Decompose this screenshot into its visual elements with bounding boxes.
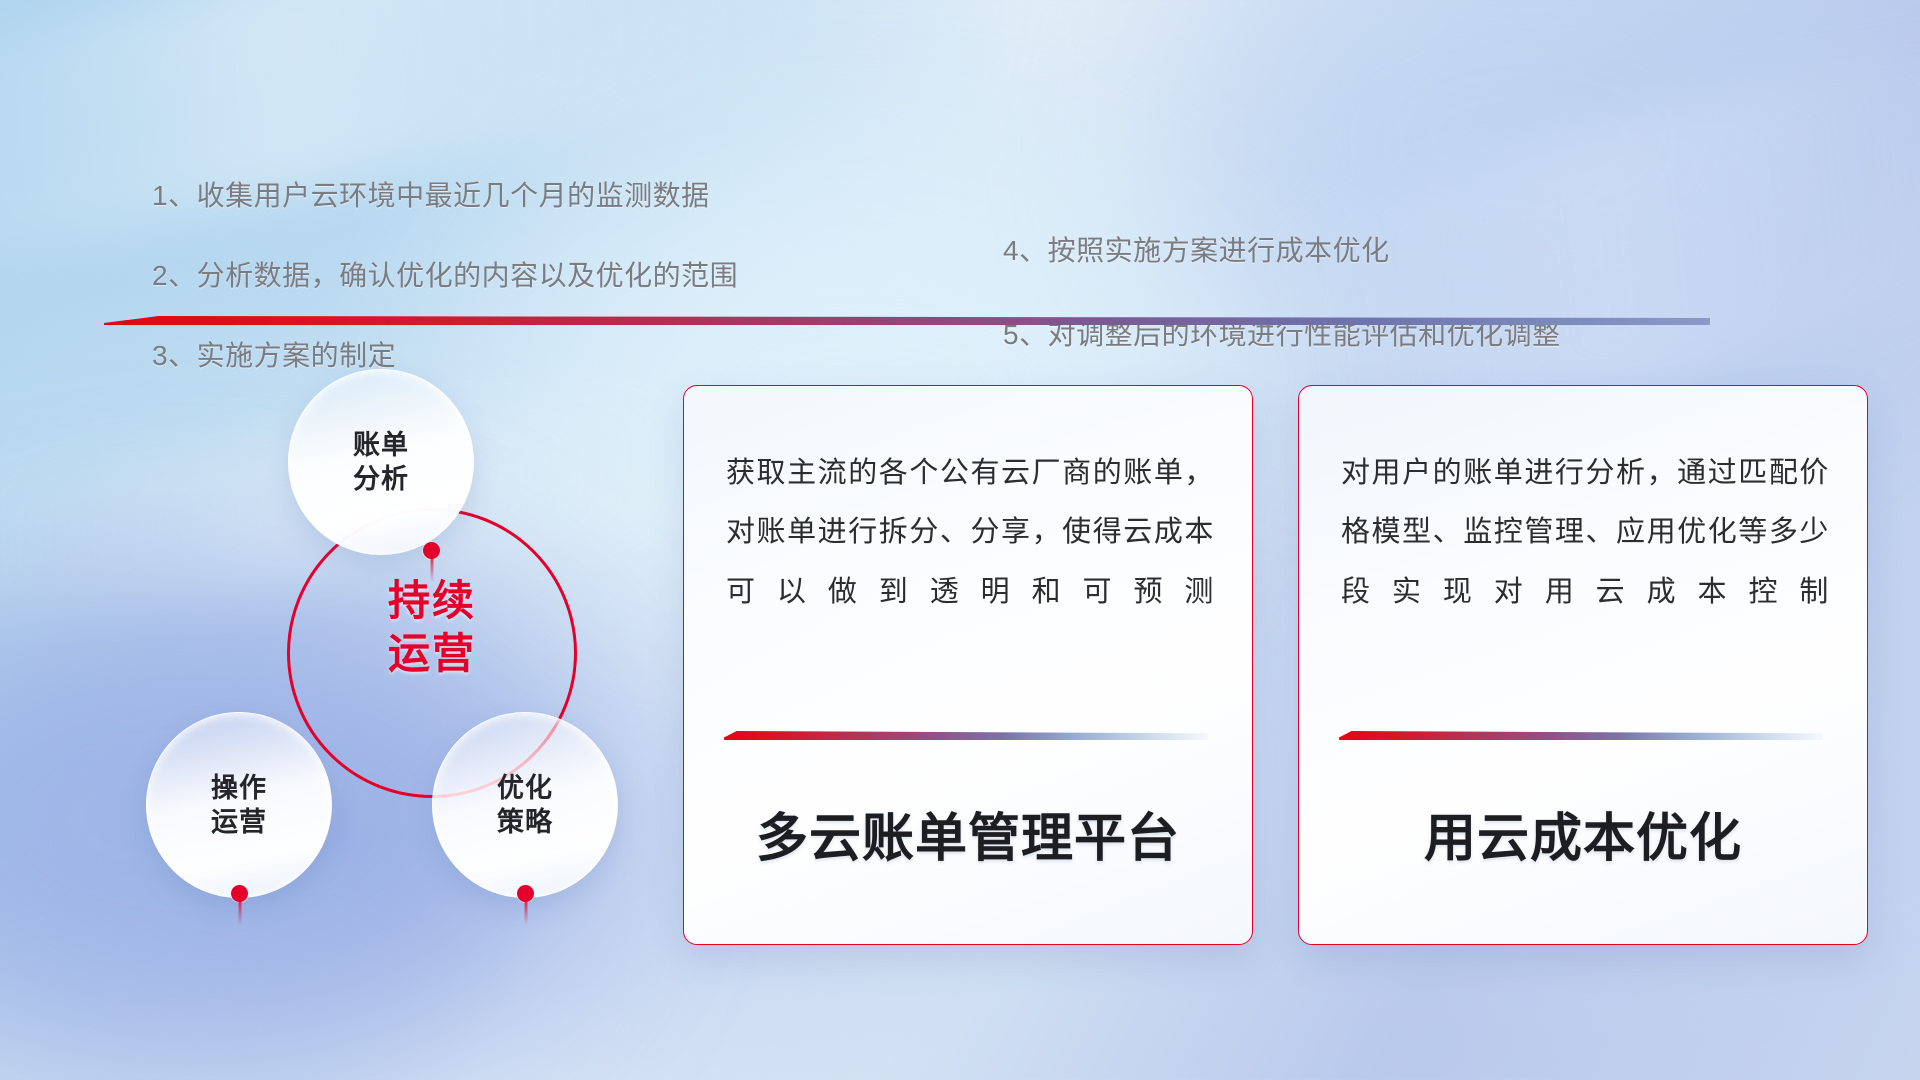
diagram-node-bill-analysis[interactable]: 账单 分析 (288, 369, 474, 555)
diagram-center-label-line2: 运营 (287, 628, 577, 681)
diagram-node-operation-line2: 运营 (211, 805, 267, 839)
diagram-node-optimization-strategy-line2: 策略 (497, 805, 553, 839)
card-multicloud-billing-platform[interactable]: 获取主流的各个公有云厂商的账单，对账单进行拆分、分享，使得云成本可以做到透明和可… (683, 385, 1253, 945)
step-item-4: 4、按照实施方案进行成本优化 (1003, 237, 1561, 265)
diagram-center-label: 持续 运营 (287, 575, 577, 680)
diagram-connector-dot-left (231, 885, 248, 902)
diagram-node-optimization-strategy[interactable]: 优化 策略 (432, 712, 618, 898)
continuous-operation-diagram: 持续 运营 账单 分析 操作 运营 优化 策略 (100, 340, 620, 960)
card-multicloud-billing-platform-title: 多云账单管理平台 (684, 796, 1252, 871)
card-multicloud-billing-platform-rule (724, 731, 1208, 740)
card-cloud-cost-optimization[interactable]: 对用户的账单进行分析，通过匹配价格模型、监控管理、应用优化等多少段实现对用云成本… (1298, 385, 1868, 945)
diagram-node-bill-analysis-line1: 账单 (353, 428, 409, 462)
step-item-2: 2、分析数据，确认优化的内容以及优化的范围 (152, 262, 738, 290)
card-cloud-cost-optimization-rule (1339, 731, 1823, 740)
section-divider (104, 313, 1710, 329)
card-cloud-cost-optimization-body: 对用户的账单进行分析，通过匹配价格模型、监控管理、应用优化等多少段实现对用云成本… (1341, 444, 1829, 622)
steps-section: 1、收集用户云环境中最近几个月的监测数据 2、分析数据，确认优化的内容以及优化的… (0, 0, 1920, 300)
step-item-1: 1、收集用户云环境中最近几个月的监测数据 (152, 182, 738, 210)
diagram-node-bill-analysis-line2: 分析 (353, 462, 409, 496)
card-multicloud-billing-platform-body: 获取主流的各个公有云厂商的账单，对账单进行拆分、分享，使得云成本可以做到透明和可… (726, 444, 1214, 622)
diagram-node-optimization-strategy-line1: 优化 (497, 771, 553, 805)
diagram-center-label-line1: 持续 (287, 575, 577, 628)
diagram-node-operation-line1: 操作 (211, 771, 267, 805)
diagram-connector-dot-right (517, 885, 534, 902)
diagram-connector-dot-top (423, 542, 440, 559)
card-cloud-cost-optimization-title: 用云成本优化 (1299, 796, 1867, 871)
diagram-node-operation[interactable]: 操作 运营 (146, 712, 332, 898)
divider-line (104, 316, 1710, 325)
